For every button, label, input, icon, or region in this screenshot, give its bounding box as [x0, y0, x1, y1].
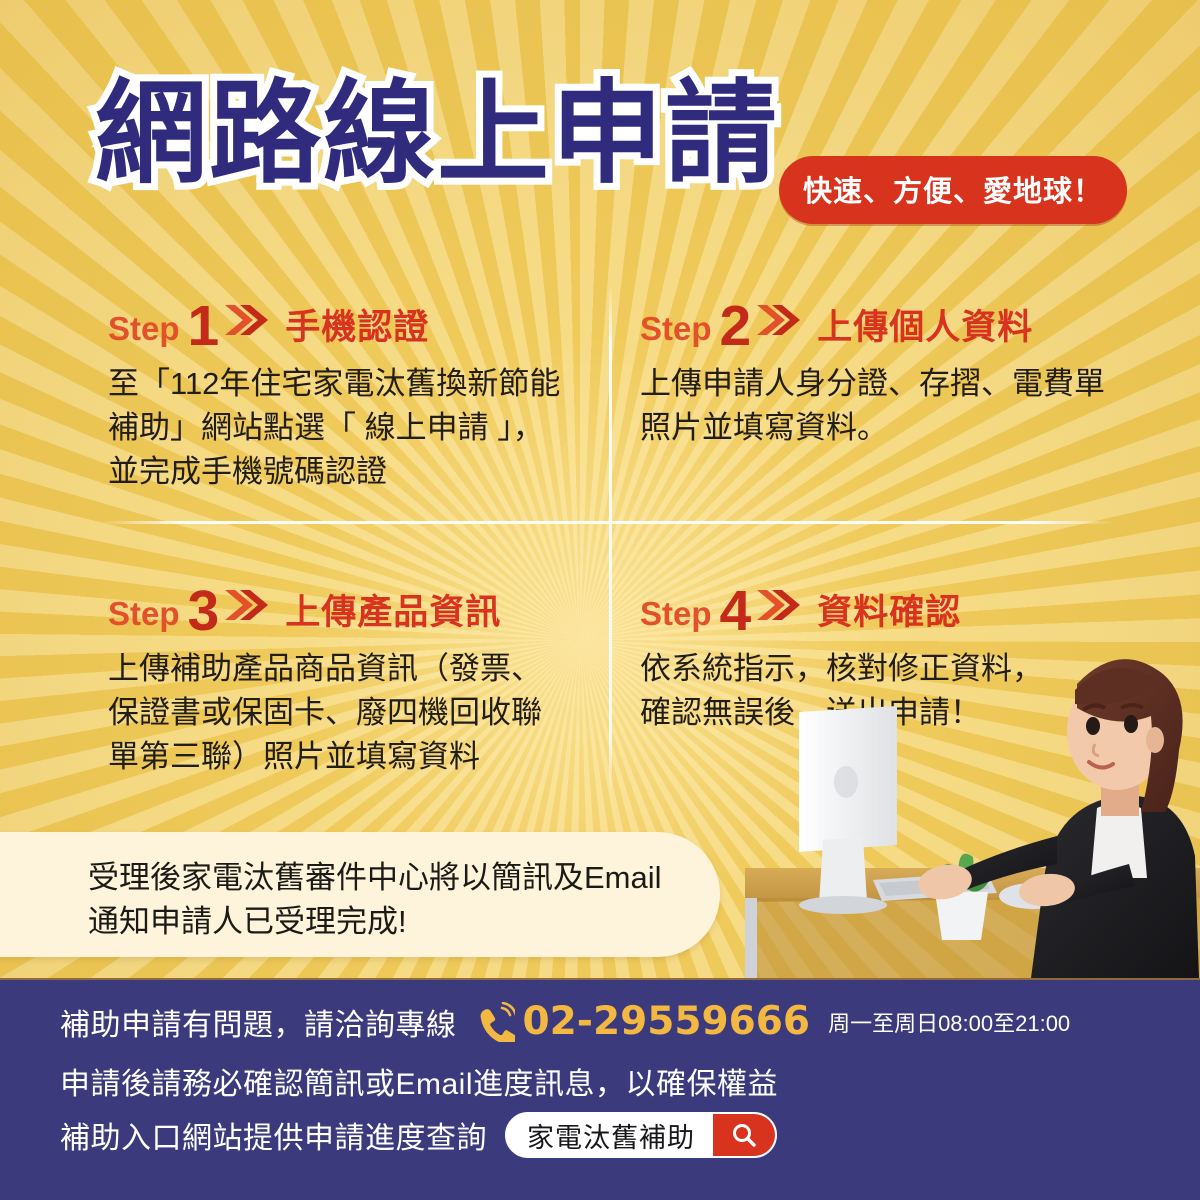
step-card-2: Step 2 上傳個人資料 上傳申請人身分證、存摺、電費單 照片並填寫資料。	[640, 290, 1140, 450]
search-button[interactable]	[713, 1114, 775, 1156]
double-chevron-icon	[223, 303, 269, 342]
step-body-3: 上傳補助產品商品資訊（發票、 保證書或保固卡、廢四機回收聯 單第三聯）照片並填寫…	[108, 647, 608, 779]
double-chevron-icon	[755, 588, 801, 627]
step-body-line: 上傳申請人身分證、存摺、電費單	[640, 362, 1140, 406]
footer-notice-row: 申請後請務必確認簡訊或Email進度訊息，以確保權益	[60, 1059, 778, 1103]
desk-leg	[745, 898, 757, 978]
step-title-3: 上傳產品資訊	[285, 595, 501, 630]
step-number-1: 1	[188, 303, 220, 350]
notice-line: 受理後家電汰舊審件中心將以簡訊及Email	[88, 856, 662, 900]
step-word-4: Step	[640, 597, 712, 630]
eye	[1086, 717, 1100, 735]
hotline-label: 補助申請有問題，請洽詢專線	[60, 1000, 457, 1044]
notice-line: 通知申請人已受理完成!	[88, 900, 662, 944]
step-number-4: 4	[720, 588, 752, 635]
step-header-2: Step 2 上傳個人資料	[640, 290, 1140, 348]
step-card-1: Step 1 手機認證 至「112年住宅家電汰舊換新節能 補助」網站點選「 線上…	[108, 290, 608, 494]
step-body-line: 並完成手機號碼認證	[108, 450, 608, 494]
hotline-hours: 周一至周日08:00至21:00	[828, 1006, 1070, 1038]
step-body-line: 上傳補助產品商品資訊（發票、	[108, 647, 608, 691]
step-body-line: 至「112年住宅家電汰舊換新節能	[108, 362, 608, 406]
notice-box: 受理後家電汰舊審件中心將以簡訊及Email 通知申請人已受理完成!	[0, 832, 720, 957]
footer-search-row: 補助入口網站提供申請進度查詢 家電汰舊補助	[60, 1112, 777, 1158]
progress-query-label: 補助入口網站提供申請進度查詢	[60, 1113, 487, 1157]
woman-at-computer-illustration	[745, 640, 1200, 978]
double-chevron-icon	[755, 303, 801, 342]
header: 網路線上申請 快速、方便、愛地球！	[0, 0, 1200, 240]
search-keyword[interactable]: 家電汰舊補助	[507, 1114, 713, 1156]
phone-icon	[475, 1002, 515, 1042]
step-title-4: 資料確認	[817, 595, 961, 630]
hotline-number[interactable]: 02-29559666	[523, 999, 811, 1044]
step-word-1: Step	[108, 312, 180, 345]
step-header-1: Step 1 手機認證	[108, 290, 608, 348]
step-title-2: 上傳個人資料	[817, 310, 1033, 345]
step-body-line: 保證書或保固卡、廢四機回收聯	[108, 691, 608, 735]
search-pill[interactable]: 家電汰舊補助	[505, 1112, 777, 1158]
step-body-1: 至「112年住宅家電汰舊換新節能 補助」網站點選「 線上申請 」， 並完成手機號…	[108, 362, 608, 494]
monitor-stand	[819, 837, 867, 904]
eye	[1124, 715, 1138, 733]
footer-bar: 補助申請有問題，請洽詢專線 02-29559666 周一至周日08:00至21:…	[0, 978, 1200, 1200]
double-chevron-icon	[223, 588, 269, 627]
footer-hotline-row: 補助申請有問題，請洽詢專線 02-29559666 周一至周日08:00至21:…	[60, 999, 1070, 1044]
infographic-canvas: 網路線上申請 快速、方便、愛地球！ Step 1 手機認證 至「112年住宅家電…	[0, 0, 1200, 1200]
step-body-2: 上傳申請人身分證、存摺、電費單 照片並填寫資料。	[640, 362, 1140, 450]
step-body-line: 單第三聯）照片並填寫資料	[108, 735, 608, 779]
step-header-3: Step 3 上傳產品資訊	[108, 575, 608, 633]
tagline-badge: 快速、方便、愛地球！	[779, 156, 1127, 224]
notice-text: 受理後家電汰舊審件中心將以簡訊及Email 通知申請人已受理完成!	[88, 856, 662, 944]
step-title-1: 手機認證	[285, 310, 429, 345]
step-body-line: 照片並填寫資料。	[640, 406, 1140, 450]
step-body-line: 補助」網站點選「 線上申請 」，	[108, 406, 608, 450]
step-header-4: Step 4 資料確認	[640, 575, 1140, 633]
page-title: 網路線上申請	[95, 78, 779, 190]
step-number-2: 2	[720, 303, 752, 350]
search-icon	[730, 1121, 758, 1149]
step-word-3: Step	[108, 597, 180, 630]
step-word-2: Step	[640, 312, 712, 345]
footer-notice-text: 申請後請務必確認簡訊或Email進度訊息，以確保權益	[60, 1059, 778, 1103]
step-card-3: Step 3 上傳產品資訊 上傳補助產品商品資訊（發票、 保證書或保固卡、廢四機…	[108, 575, 608, 779]
step-number-3: 3	[188, 588, 220, 635]
